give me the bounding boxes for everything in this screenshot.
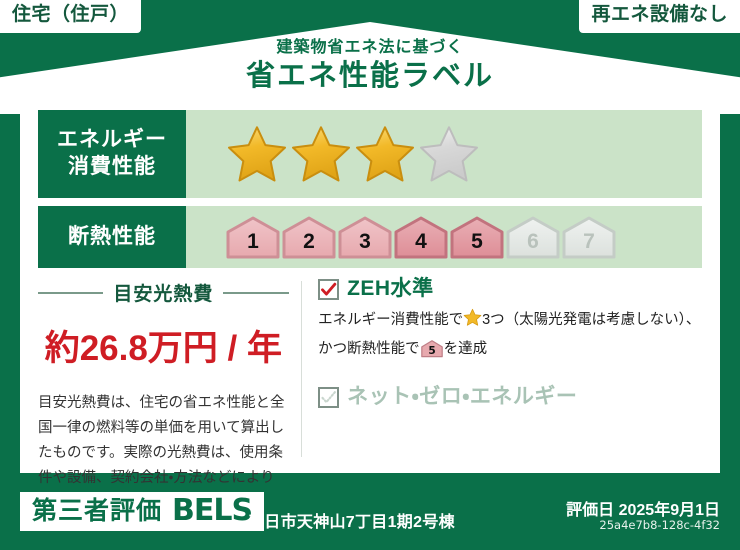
insulation-scale: 1234567	[186, 206, 702, 268]
star-filled-icon	[226, 124, 288, 184]
zeh-section: ZEH水準 エネルギー消費性能で 3つ（太陽光発電は考慮しない）、かつ断熱性能で…	[302, 277, 702, 467]
utility-cost-heading-text: 目安光熱費	[113, 279, 213, 306]
star-filled-icon	[354, 124, 416, 184]
header-subtitle: 建築物省エネ法に基づく	[0, 38, 740, 57]
insulation-level-number: 4	[415, 231, 427, 259]
evaluation-date: 評価日 2025年9月1日	[566, 496, 720, 520]
header: 建築物省エネ法に基づく 省エネ性能ラベル	[0, 38, 740, 94]
zeh-desc-part3: を達成	[444, 341, 488, 357]
utility-cost-heading: 目安光熱費	[38, 279, 289, 306]
utility-cost-section: 目安光熱費 約26.8万円 / 年 目安光熱費は、住宅の省エネ性能と全国一律の燃…	[38, 277, 301, 467]
star-filled-icon	[290, 124, 352, 184]
header-title: 省エネ性能ラベル	[0, 59, 740, 94]
insulation-label-text: 断熱性能	[68, 224, 156, 251]
insulation-level-number: 3	[359, 231, 371, 259]
insulation-level-number: 7	[583, 231, 595, 259]
star-rating	[186, 110, 702, 198]
energy-label-card: 住宅（住戸） 再エネ設備なし 建築物省エネ法に基づく 省エネ性能ラベル エネルギ…	[0, 0, 740, 550]
insulation-level-empty: 7	[562, 215, 616, 259]
inline-house-badge: 5	[421, 339, 443, 367]
insulation-level-filled: 1	[226, 215, 280, 259]
insulation-level-number: 2	[303, 231, 315, 259]
property-address: 春日市天神山7丁目1期2号棟	[248, 508, 455, 532]
badge-building-type: 住宅（住戸）	[0, 0, 141, 33]
zeh-desc-part1: エネルギー消費性能で	[318, 312, 463, 328]
svg-text:5: 5	[428, 345, 435, 357]
insulation-level-number: 6	[527, 231, 539, 259]
energy-label-line1: エネルギー	[57, 127, 167, 154]
insulation-level-filled: 4	[394, 215, 448, 259]
insulation-level-filled: 3	[338, 215, 392, 259]
net-zero-checkbox-unchecked-icon	[318, 387, 339, 408]
main-panel: エネルギー 消費性能 断熱性能 1234567 目安光熱費 約26.8万円 / …	[20, 105, 720, 473]
zeh-criterion-row: ZEH水準	[318, 277, 702, 301]
evaluation-id: 25a4e7b8-128c-4f32	[599, 518, 720, 532]
energy-performance-label: エネルギー 消費性能	[38, 110, 186, 198]
footer: 第三者評価 BELS 春日市天神山7丁目1期2号棟 評価日 2025年9月1日 …	[0, 478, 740, 550]
net-zero-criterion-row: ネット・ゼロ・エネルギー	[318, 385, 702, 409]
badge-renewable-energy: 再エネ設備なし	[579, 0, 740, 33]
insulation-level-number: 5	[471, 231, 483, 259]
zeh-description: エネルギー消費性能で 3つ（太陽光発電は考慮しない）、かつ断熱性能で 5 を達成	[318, 308, 702, 367]
utility-cost-value: 約26.8万円 / 年	[38, 320, 289, 371]
net-zero-title: ネット・ゼロ・エネルギー	[347, 385, 577, 409]
star-empty-icon	[418, 124, 480, 184]
energy-label-line2: 消費性能	[68, 154, 156, 181]
zeh-title: ZEH水準	[347, 277, 434, 301]
insulation-level-empty: 6	[506, 215, 560, 259]
insulation-level-number: 1	[247, 231, 259, 259]
inline-star-icon	[463, 308, 482, 336]
insulation-performance-label: 断熱性能	[38, 206, 186, 268]
insulation-level-filled: 5	[450, 215, 504, 259]
bels-third-party-text: 第三者評価	[32, 499, 162, 524]
insulation-level-filled: 2	[282, 215, 336, 259]
energy-performance-row: エネルギー 消費性能	[38, 110, 702, 198]
details-area: 目安光熱費 約26.8万円 / 年 目安光熱費は、住宅の省エネ性能と全国一律の燃…	[38, 277, 702, 467]
bels-logo-plate: 第三者評価 BELS	[20, 492, 264, 531]
insulation-performance-row: 断熱性能 1234567	[38, 206, 702, 268]
bels-wordmark: BELS	[172, 496, 252, 526]
zeh-checkbox-checked-icon	[318, 279, 339, 300]
